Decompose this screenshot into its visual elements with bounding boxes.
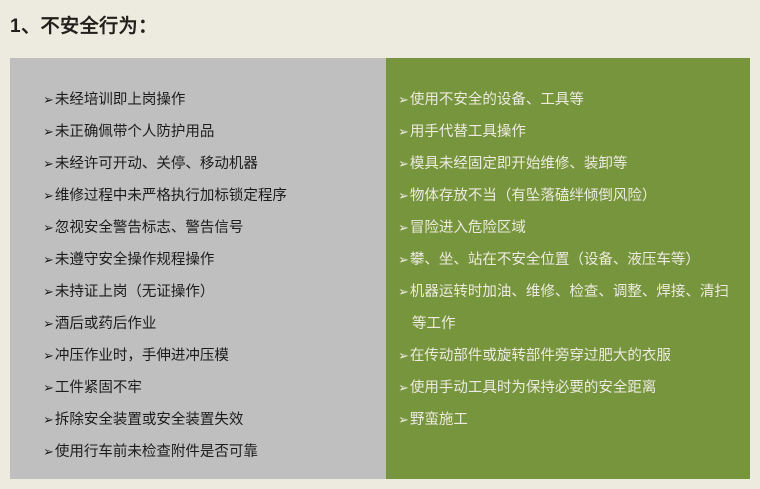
bullet-arrow-icon: ➢ [398,284,409,299]
list-item: ➢使用不安全的设备、工具等 [398,84,736,116]
list-item: ➢攀、坐、站在不安全位置（设备、液压车等） [398,244,736,276]
bullet-arrow-icon: ➢ [398,252,409,267]
list-item: ➢使用行车前未检查附件是否可靠 [43,436,378,468]
list-item-label: 工件紧固不牢 [55,380,142,396]
list-item: ➢冒险进入危险区域 [398,212,736,244]
list-item-label: 使用行车前未检查附件是否可靠 [55,444,258,460]
slide-root: 1、不安全行为： ➢未经培训即上岗操作➢未正确佩带个人防护用品➢未经许可开动、关… [0,0,760,489]
unsafe-behavior-panel-left: ➢未经培训即上岗操作➢未正确佩带个人防护用品➢未经许可开动、关停、移动机器➢维修… [10,58,386,479]
bullet-arrow-icon: ➢ [398,92,409,107]
bullet-arrow-icon: ➢ [43,444,54,459]
list-item: ➢在传动部件或旋转部件旁穿过肥大的衣服 [398,340,736,372]
list-item-label: 维修过程中未严格执行加标锁定程序 [55,188,287,204]
list-item-label: 机器运转时加油、维修、检查、调整、焊接、清扫等工作 [410,284,729,332]
list-item-label: 未经培训即上岗操作 [55,92,186,108]
list-item-label: 物体存放不当（有坠落磕绊倾倒风险） [410,188,657,204]
bullet-arrow-icon: ➢ [43,316,54,331]
list-item: ➢未遵守安全操作规程操作 [43,244,378,276]
list-item: ➢维修过程中未严格执行加标锁定程序 [43,180,378,212]
bullet-arrow-icon: ➢ [43,124,54,139]
list-item: ➢未持证上岗（无证操作） [43,276,378,308]
bullet-arrow-icon: ➢ [43,252,54,267]
list-item-label: 冲压作业时，手伸进冲压模 [55,348,229,364]
list-item: ➢使用手动工具时为保持必要的安全距离 [398,372,736,404]
list-item: ➢物体存放不当（有坠落磕绊倾倒风险） [398,180,736,212]
list-item-label: 用手代替工具操作 [410,124,526,140]
bullet-arrow-icon: ➢ [43,284,54,299]
list-item: ➢冲压作业时，手伸进冲压模 [43,340,378,372]
bullet-arrow-icon: ➢ [43,92,54,107]
bullet-arrow-icon: ➢ [43,156,54,171]
list-item: ➢酒后或药后作业 [43,308,378,340]
list-item-label: 未持证上岗（无证操作） [55,284,215,300]
bullet-arrow-icon: ➢ [43,220,54,235]
bullet-arrow-icon: ➢ [398,156,409,171]
list-item: ➢模具未经固定即开始维修、装卸等 [398,148,736,180]
two-column-panels: ➢未经培训即上岗操作➢未正确佩带个人防护用品➢未经许可开动、关停、移动机器➢维修… [10,58,750,479]
list-item: ➢机器运转时加油、维修、检查、调整、焊接、清扫等工作 [398,276,736,340]
list-item-label: 忽视安全警告标志、警告信号 [55,220,244,236]
list-item: ➢野蛮施工 [398,404,736,436]
bullet-arrow-icon: ➢ [43,188,54,203]
list-item: ➢忽视安全警告标志、警告信号 [43,212,378,244]
unsafe-behavior-panel-right: ➢使用不安全的设备、工具等➢用手代替工具操作➢模具未经固定即开始维修、装卸等➢物… [386,58,750,479]
bullet-arrow-icon: ➢ [43,380,54,395]
unsafe-behavior-list-right: ➢使用不安全的设备、工具等➢用手代替工具操作➢模具未经固定即开始维修、装卸等➢物… [398,84,736,436]
bullet-arrow-icon: ➢ [398,380,409,395]
page-title: 1、不安全行为： [10,14,158,40]
list-item-label: 使用不安全的设备、工具等 [410,92,584,108]
list-item-label: 拆除安全装置或安全装置失效 [55,412,244,428]
list-item-label: 模具未经固定即开始维修、装卸等 [410,156,628,172]
bullet-arrow-icon: ➢ [43,348,54,363]
list-item-label: 未遵守安全操作规程操作 [55,252,215,268]
list-item: ➢未经许可开动、关停、移动机器 [43,148,378,180]
list-item-label: 在传动部件或旋转部件旁穿过肥大的衣服 [410,348,671,364]
list-item-label: 攀、坐、站在不安全位置（设备、液压车等） [410,252,700,268]
bullet-arrow-icon: ➢ [398,348,409,363]
bullet-arrow-icon: ➢ [43,412,54,427]
list-item-label: 未经许可开动、关停、移动机器 [55,156,258,172]
list-item-label: 冒险进入危险区域 [410,220,526,236]
unsafe-behavior-list-left: ➢未经培训即上岗操作➢未正确佩带个人防护用品➢未经许可开动、关停、移动机器➢维修… [43,84,378,468]
bullet-arrow-icon: ➢ [398,220,409,235]
bullet-arrow-icon: ➢ [398,412,409,427]
bullet-arrow-icon: ➢ [398,124,409,139]
list-item: ➢工件紧固不牢 [43,372,378,404]
list-item-label: 未正确佩带个人防护用品 [55,124,215,140]
list-item: ➢未经培训即上岗操作 [43,84,378,116]
list-item-label: 酒后或药后作业 [55,316,157,332]
list-item-label: 使用手动工具时为保持必要的安全距离 [410,380,657,396]
list-item: ➢拆除安全装置或安全装置失效 [43,404,378,436]
bullet-arrow-icon: ➢ [398,188,409,203]
list-item-label: 野蛮施工 [410,412,468,428]
list-item: ➢用手代替工具操作 [398,116,736,148]
list-item: ➢未正确佩带个人防护用品 [43,116,378,148]
